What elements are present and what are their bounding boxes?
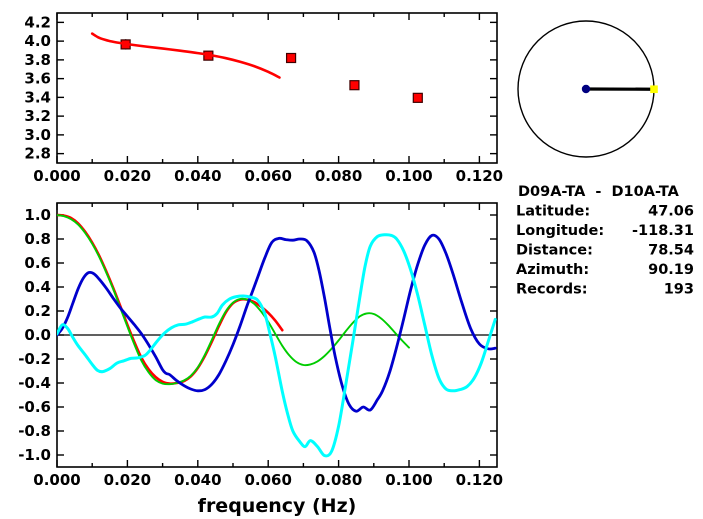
azimuth-compass-group [518, 21, 658, 157]
y-tick-label: -0.8 [18, 422, 51, 440]
y-tick-label: -0.2 [18, 350, 51, 368]
y-tick-label: -1.0 [18, 446, 51, 464]
x-axis-label: frequency (Hz) [198, 495, 357, 517]
figure-canvas: 0.0000.0200.0400.0600.0800.1000.1202.83.… [0, 0, 703, 519]
info-row-value: 90.19 [648, 262, 694, 278]
info-row-label: Azimuth: [516, 262, 589, 278]
y-tick-label: 1.0 [24, 206, 51, 224]
x-tick-label: 0.060 [244, 167, 291, 185]
x-tick-label: 0.120 [456, 471, 503, 489]
imaginary-component-green-path [57, 215, 409, 384]
cross-correlation-plot-group: 0.0000.0200.0400.0600.0800.1000.120-1.0-… [18, 203, 503, 517]
data-marker [350, 81, 359, 90]
dispersion-plot-group: 0.0000.0200.0400.0600.0800.1000.1202.83.… [24, 13, 503, 185]
x-tick-label: 0.020 [104, 471, 151, 489]
y-tick-label: 0.2 [24, 302, 51, 320]
y-tick-label: 3.2 [24, 107, 51, 125]
y-tick-label: 3.4 [24, 88, 51, 106]
y-tick-label: 0.4 [24, 278, 51, 296]
x-tick-label: 0.080 [315, 167, 362, 185]
data-marker [287, 54, 296, 63]
y-tick-label: -0.4 [18, 374, 51, 392]
y-tick-label: 4.2 [24, 13, 51, 31]
x-tick-label: 0.100 [385, 471, 432, 489]
coherency-cyan-path [57, 235, 495, 456]
info-row-label: Latitude: [516, 204, 590, 220]
info-panel-group: D09A-TA - D10A-TALatitude:47.06Longitude… [516, 184, 694, 298]
info-row-label: Distance: [516, 243, 593, 259]
y-tick-label: -0.6 [18, 398, 51, 416]
x-tick-label: 0.040 [174, 167, 221, 185]
plot-svg: 0.0000.0200.0400.0600.0800.1000.1202.83.… [0, 0, 703, 519]
y-tick-label: 3.8 [24, 51, 51, 69]
dispersion-plot-frame [57, 13, 497, 163]
x-tick-label: 0.100 [385, 167, 432, 185]
y-tick-label: 0.6 [24, 254, 51, 272]
y-tick-label: 0.0 [24, 326, 51, 344]
x-tick-label: 0.020 [104, 167, 151, 185]
info-row-value: -118.31 [632, 223, 694, 239]
station-target-dot [650, 85, 658, 93]
info-row-label: Longitude: [516, 223, 604, 239]
y-tick-label: 3.6 [24, 70, 51, 88]
info-row-value: 47.06 [648, 204, 694, 220]
info-row-value: 193 [664, 282, 694, 298]
x-tick-label: 0.080 [315, 471, 362, 489]
station-origin-dot [582, 85, 590, 93]
y-tick-label: 3.0 [24, 126, 51, 144]
y-tick-label: 0.8 [24, 230, 51, 248]
info-row-value: 78.54 [648, 243, 694, 259]
x-tick-label: 0.040 [174, 471, 221, 489]
y-tick-label: 4.0 [24, 32, 51, 50]
x-tick-label: 0.060 [244, 471, 291, 489]
model-curve-path [92, 34, 279, 78]
info-row-label: Records: [516, 282, 588, 298]
data-marker [413, 93, 422, 102]
y-tick-label: 2.8 [24, 145, 51, 163]
x-tick-label: 0.000 [33, 471, 80, 489]
x-tick-label: 0.120 [456, 167, 503, 185]
station-pair-title: D09A-TA - D10A-TA [518, 184, 680, 200]
x-tick-label: 0.000 [33, 167, 80, 185]
